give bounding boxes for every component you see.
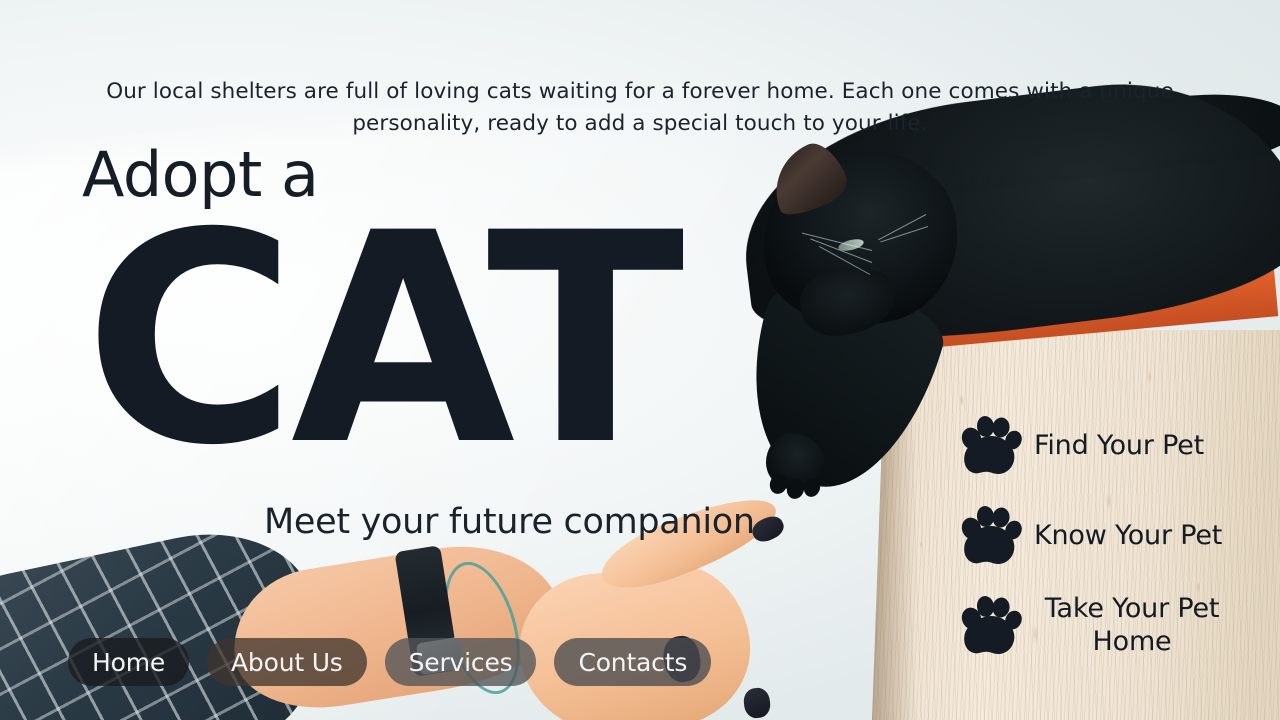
feature-list: Find Your Pet Know Your Pet	[958, 412, 1258, 658]
hero-tagline: Meet your future companion	[264, 500, 755, 544]
nav-item-home[interactable]: Home	[68, 638, 189, 686]
paw-icon	[958, 594, 1022, 656]
feature-item-find-your-pet[interactable]: Find Your Pet	[958, 412, 1258, 478]
main-navigation: Home About Us Services Contacts	[68, 638, 711, 686]
hero-headline: CAT	[84, 196, 679, 486]
feature-item-label: Take Your Pet Home	[1034, 592, 1230, 658]
feature-item-take-your-pet-home[interactable]: Take Your Pet Home	[958, 592, 1258, 658]
slide-canvas: Our local shelters are full of loving ca…	[0, 0, 1280, 720]
feature-item-label: Find Your Pet	[1034, 429, 1204, 462]
intro-paragraph: Our local shelters are full of loving ca…	[88, 76, 1192, 140]
nav-item-label: Contacts	[578, 650, 687, 675]
nav-item-label: Services	[409, 650, 513, 675]
nav-item-about-us[interactable]: About Us	[207, 638, 367, 686]
feature-item-know-your-pet[interactable]: Know Your Pet	[958, 502, 1258, 568]
nav-item-label: About Us	[231, 650, 343, 675]
feature-item-label: Know Your Pet	[1034, 519, 1222, 552]
paw-icon	[958, 504, 1022, 566]
nav-item-services[interactable]: Services	[385, 638, 537, 686]
nav-item-contacts[interactable]: Contacts	[554, 638, 711, 686]
paw-icon	[958, 414, 1022, 476]
nav-item-label: Home	[92, 650, 165, 675]
